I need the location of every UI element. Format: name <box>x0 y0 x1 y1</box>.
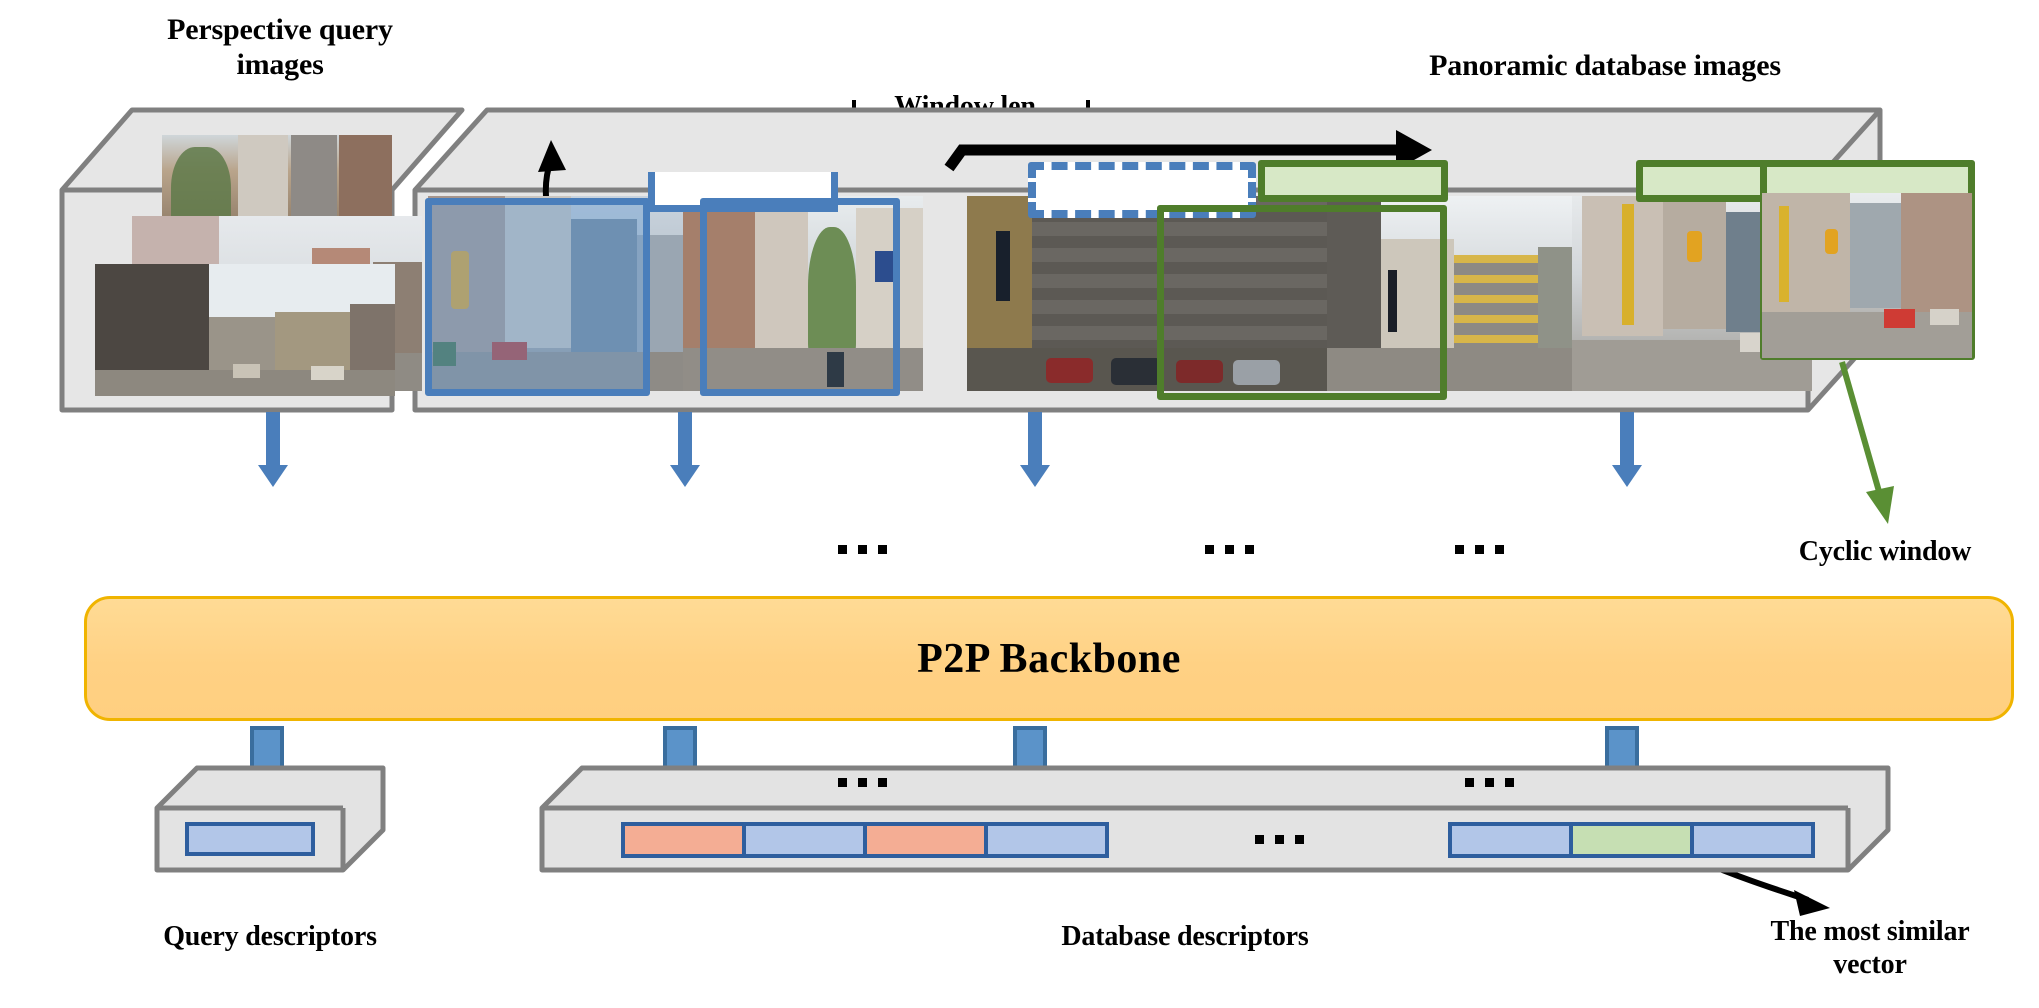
ellipsis-descriptor-top-2 <box>1465 778 1514 787</box>
label-panoramic-database-images: Panoramic database images <box>1390 48 1820 83</box>
db-descriptor-cell-1[interactable] <box>621 822 746 858</box>
db-descriptor-cell-6[interactable] <box>1690 822 1815 858</box>
window-frame-1[interactable] <box>425 198 650 396</box>
label-window-len: Window len <box>855 90 1075 123</box>
query-descriptor-cell[interactable] <box>185 822 315 856</box>
label-perspective-query-images: Perspective query images <box>110 12 450 83</box>
arrow-window1-to-backbone <box>670 412 700 487</box>
window-frame-2[interactable] <box>700 198 900 396</box>
query-photo-1 <box>95 264 395 396</box>
cyclic-window-frame-main[interactable] <box>1157 205 1447 400</box>
label-cyclic-window: Cyclic window <box>1760 535 2010 568</box>
db-descriptor-cell-4[interactable] <box>984 822 1109 858</box>
arrow-query-to-backbone <box>258 412 288 487</box>
db-descriptor-cell-2[interactable] <box>742 822 867 858</box>
cyclic-window-frame-left[interactable] <box>1258 160 1448 202</box>
p2p-backbone-label: P2P Backbone <box>917 635 1181 683</box>
p2p-backbone-block[interactable]: P2P Backbone <box>84 596 2014 721</box>
ellipsis-arrows-1 <box>838 545 887 554</box>
arrow-window4-to-backbone <box>1612 412 1642 487</box>
db-descriptor-cell-3[interactable] <box>863 822 988 858</box>
figure-canvas: Perspective query images Panoramic datab… <box>0 0 2039 1008</box>
db-descriptor-cell-match[interactable] <box>1569 822 1694 858</box>
ellipsis-descriptor-top-1 <box>838 778 887 787</box>
db-descriptor-cell-5[interactable] <box>1448 822 1573 858</box>
label-most-similar-vector: The most similar vector <box>1730 915 2010 981</box>
ellipsis-arrows-3 <box>1455 545 1504 554</box>
label-slide-stride: Slide Stride <box>468 103 688 136</box>
arrow-window2-to-backbone <box>1020 412 1050 487</box>
label-database-descriptors: Database descriptors <box>1000 920 1370 953</box>
label-query-descriptors: Query descriptors <box>110 920 430 953</box>
cyclic-wrapped-photo <box>1762 193 1972 358</box>
ellipsis-descriptor-row <box>1255 835 1304 844</box>
ellipsis-arrows-2 <box>1205 545 1254 554</box>
